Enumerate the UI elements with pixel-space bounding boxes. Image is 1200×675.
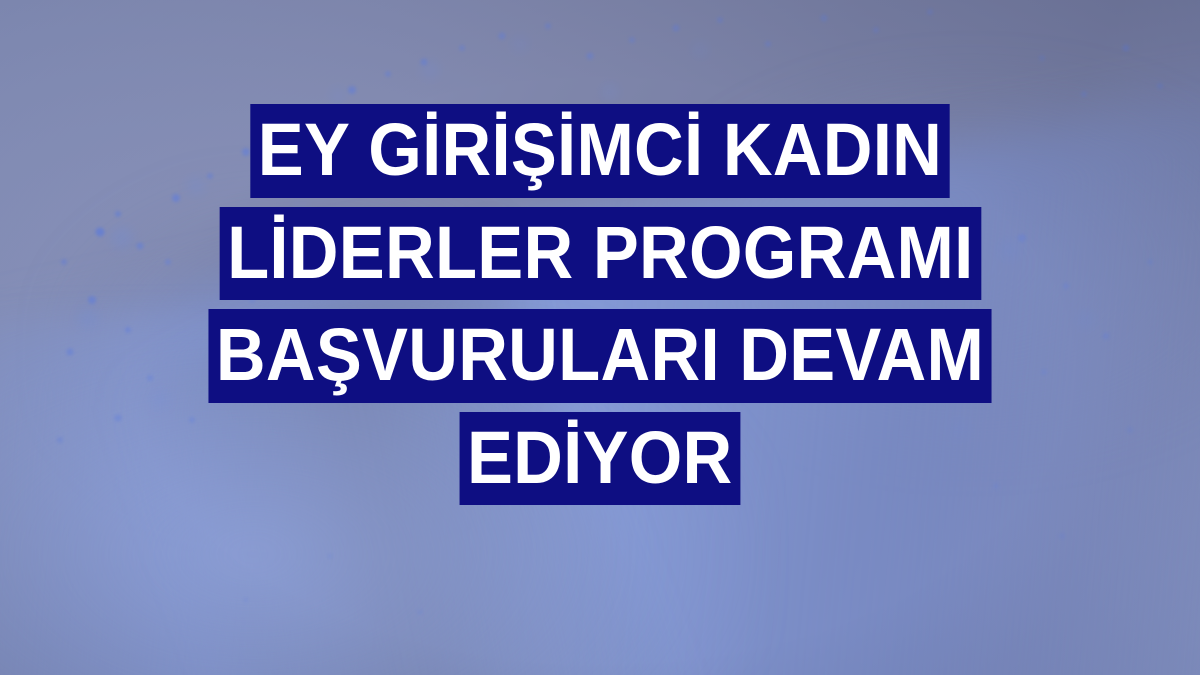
- headline-block: EY GİRİŞİMCİ KADIN LİDERLER PROGRAMI BAŞ…: [0, 104, 1200, 514]
- headline-line-3: BAŞVURULARI DEVAM: [208, 309, 991, 403]
- headline-line-2: LİDERLER PROGRAMI: [219, 207, 980, 301]
- headline-graphic: EY GİRİŞİMCİ KADIN LİDERLER PROGRAMI BAŞ…: [0, 0, 1200, 675]
- headline-line-4: EDİYOR: [460, 412, 740, 506]
- headline-line-1: EY GİRİŞİMCİ KADIN: [250, 104, 949, 198]
